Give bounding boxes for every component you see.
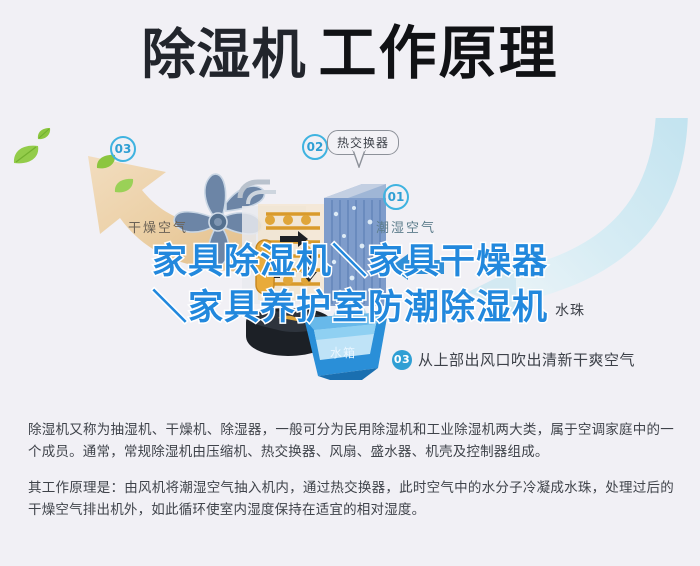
note-03-outlet: 03从上部出风口吹出清新干爽空气 [392, 349, 635, 370]
title-part-dehumidifier: 除湿机 [141, 23, 306, 86]
badge-02: 02 [302, 134, 328, 160]
note-03-text: 从上部出风口吹出清新干爽空气 [418, 349, 635, 370]
body-paragraph-2: 其工作原理是：由风机将潮湿空气抽入机内，通过热交换器，此时空气中的水分子冷凝成水… [28, 477, 674, 521]
badge-01: 01 [383, 184, 409, 210]
badge-03-left: 03 [110, 136, 136, 162]
page-title: 除湿机工作原理 [0, 24, 700, 82]
infographic-page: 除湿机工作原理 [0, 0, 700, 566]
watermark-text-2: ＼家具养护室防潮除湿机 [152, 288, 548, 328]
title-part-principle: 工作原理 [318, 19, 558, 87]
leaf-icon [36, 126, 52, 146]
callout-tail-icon [352, 150, 366, 168]
watermark-line-2: ＼家具养护室防潮除湿机 [0, 279, 700, 330]
watermark-text-1: 家具除湿机＼家具干燥器 [152, 242, 548, 282]
leaf-icon [114, 178, 134, 198]
label-water-tank: 水箱 [330, 344, 356, 361]
leaf-icon [12, 144, 40, 170]
badge-03-note: 03 [392, 350, 412, 370]
body-paragraph-1: 除湿机又称为抽湿机、干燥机、除湿器，一般可分为民用除湿机和工业除湿机两大类，属于… [28, 419, 674, 463]
watermark-line-1: 家具除湿机＼家具干燥器 [0, 233, 700, 284]
